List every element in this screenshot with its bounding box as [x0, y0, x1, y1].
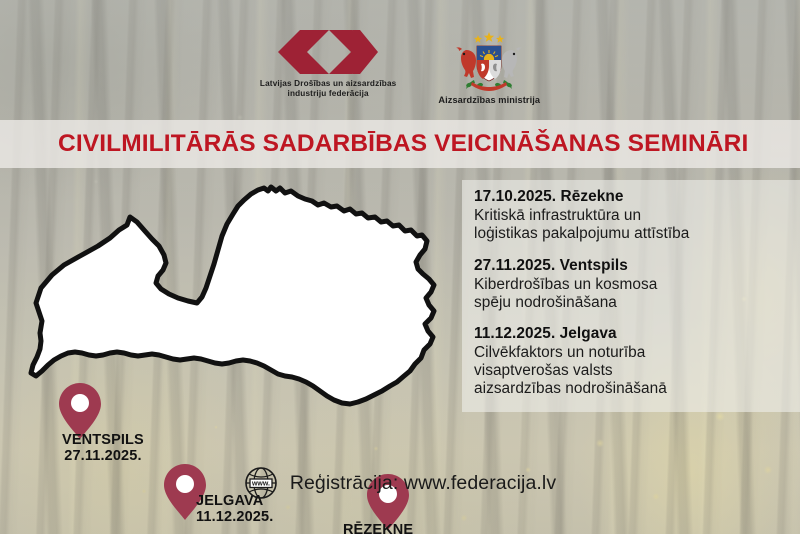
event-desc-line: loģistikas pakalpojumu attīstība	[474, 225, 794, 243]
latvia-coat-of-arms-icon	[452, 30, 526, 92]
event-desc-line: Kiberdrošības un kosmosa	[474, 276, 794, 294]
federation-caption-line2: industriju federācija	[260, 89, 396, 99]
svg-text:www.: www.	[251, 481, 270, 488]
map-label-ventspils: VENTSPILS 27.11.2025.	[62, 432, 144, 464]
federation-logo-block: Latvijas Drošības un aizsardzības indust…	[260, 30, 396, 99]
federation-logo-caption: Latvijas Drošības un aizsardzības indust…	[260, 79, 396, 99]
federation-caption-line1: Latvijas Drošības un aizsardzības	[260, 79, 396, 89]
event-desc-line: Kritiskā infrastruktūra un	[474, 207, 794, 225]
map-label-date: 27.11.2025.	[62, 448, 144, 464]
event-desc-line: spēju nodrošināšana	[474, 294, 794, 312]
header-logos: Latvijas Drošības un aizsardzības indust…	[0, 30, 800, 114]
event-desc-line: aizsardzības nodrošināšanā	[474, 380, 794, 398]
ministry-logo-caption: Aizsardzības ministrija	[438, 95, 540, 105]
event-item: 11.12.2025. Jelgava Cilvēkfaktors un not…	[474, 325, 794, 398]
event-heading: 27.11.2025. Ventspils	[474, 257, 794, 275]
title-band: CIVILMILITĀRĀS SADARBĪBAS VEICINĀŠANAS S…	[0, 120, 800, 168]
registration-footer: www. Reģistrācija: www.federacija.lv	[0, 466, 800, 500]
poster-canvas: Latvijas Drošības un aizsardzības indust…	[0, 0, 800, 534]
map-label-city: RĒZEKNE	[339, 522, 417, 534]
page-title: CIVILMILITĀRĀS SADARBĪBAS VEICINĀŠANAS S…	[58, 130, 748, 158]
event-item: 27.11.2025. Ventspils Kiberdrošības un k…	[474, 257, 794, 312]
ministry-logo-block: Aizsardzības ministrija	[438, 30, 540, 105]
ldaif-chevron-logo-icon	[274, 30, 382, 74]
registration-text: Reģistrācija: www.federacija.lv	[290, 472, 556, 495]
event-item: 17.10.2025. Rēzekne Kritiskā infrastrukt…	[474, 188, 794, 243]
event-heading: 17.10.2025. Rēzekne	[474, 188, 794, 206]
map-label-date: 11.12.2025.	[196, 509, 273, 525]
events-panel: 17.10.2025. Rēzekne Kritiskā infrastrukt…	[462, 180, 800, 412]
event-heading: 11.12.2025. Jelgava	[474, 325, 794, 343]
event-description: Kiberdrošības un kosmosa spēju nodrošinā…	[474, 276, 794, 312]
map-label-rezekne: RĒZEKNE 17.10.2025.	[339, 522, 417, 534]
event-desc-line: Cilvēkfaktors un noturība	[474, 344, 794, 362]
globe-www-icon: www.	[244, 466, 278, 500]
event-description: Kritiskā infrastruktūra un loģistikas pa…	[474, 207, 794, 243]
latvia-map: VENTSPILS 27.11.2025. JELGAVA 11.12.2025…	[6, 170, 456, 435]
event-description: Cilvēkfaktors un noturība visaptverošas …	[474, 344, 794, 398]
event-desc-line: visaptverošas valsts	[474, 362, 794, 380]
map-label-city: VENTSPILS	[62, 432, 144, 448]
